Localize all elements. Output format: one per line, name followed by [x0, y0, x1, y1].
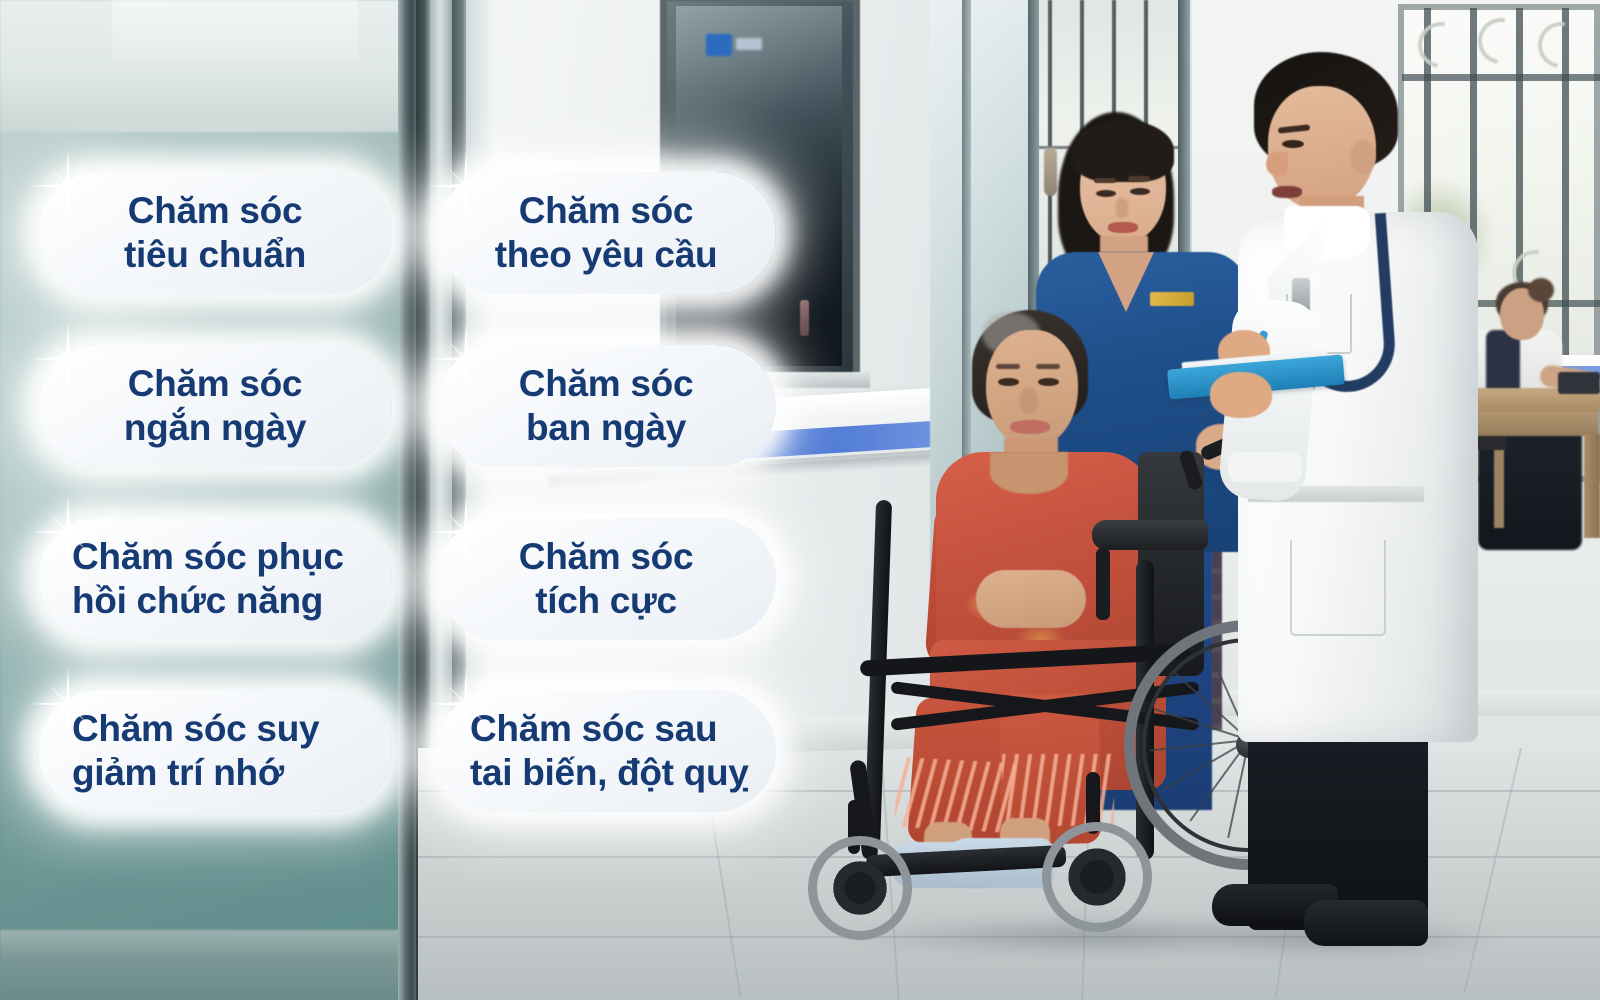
nurse-nose [1116, 198, 1128, 218]
service-pill-label: Chăm sóc ngắn ngày [124, 362, 306, 449]
doctor-ear [1350, 140, 1376, 174]
service-pill-rehabilitation-care[interactable]: Chăm sóc phục hồi chức năng [38, 518, 392, 640]
nurse-eyebrow [1128, 176, 1150, 181]
patient-eyebrow [1036, 364, 1060, 369]
service-pill-on-demand-care[interactable]: Chăm sóc theo yêu cầu [436, 172, 776, 294]
nurse-name-badge [1150, 292, 1194, 306]
service-pill-post-stroke-care[interactable]: Chăm sóc sau tai biến, đột quỵ [436, 690, 776, 812]
service-pill-short-term-care[interactable]: Chăm sóc ngắn ngày [38, 345, 392, 467]
window-sign-text [736, 38, 762, 50]
service-pill-label: Chăm sóc tiêu chuẩn [124, 189, 306, 276]
patient-hands [976, 570, 1086, 628]
wooden-desk-leg [1584, 434, 1600, 538]
doctor-coat-pocket [1290, 540, 1386, 636]
nurse-mouth [1108, 222, 1138, 233]
patient-mouth [1010, 420, 1050, 434]
service-pill-label: Chăm sóc sau tai biến, đột quỵ [470, 707, 749, 794]
doctor-mouth [1272, 186, 1302, 198]
patient-eye [1038, 378, 1059, 386]
nurse-eye [1096, 190, 1116, 197]
door-frame-left [398, 0, 416, 1000]
service-pill-standard-care[interactable]: Chăm sóc tiêu chuẩn [38, 172, 392, 294]
service-pill-label: Chăm sóc tích cực [519, 535, 693, 622]
banner-stage: Chăm sóc tiêu chuẩn Chăm sóc ngắn ngày C… [0, 0, 1600, 1000]
wheelchair-caster-wheel [808, 836, 912, 940]
wheelchair-caster-wheel [1042, 822, 1152, 932]
service-pill-day-care[interactable]: Chăm sóc ban ngày [436, 345, 776, 467]
nurse-hair-front [1072, 120, 1174, 182]
seated-staff-hair-bun [1528, 278, 1554, 302]
patient-eye [998, 378, 1019, 386]
window-latch [800, 300, 809, 336]
service-pill-memory-decline-care[interactable]: Chăm sóc suy giảm trí nhớ [38, 690, 392, 812]
doctor-eye [1282, 140, 1304, 148]
service-pill-intensive-care[interactable]: Chăm sóc tích cực [436, 518, 776, 640]
window-grille-bar [1402, 74, 1600, 81]
door-top-inner-panel [112, 0, 358, 60]
service-pill-label: Chăm sóc phục hồi chức năng [72, 535, 344, 622]
nurse-eye [1130, 188, 1150, 195]
patient-nose [1020, 388, 1038, 414]
service-pill-label: Chăm sóc suy giảm trí nhớ [72, 707, 319, 794]
wheelchair-armrest-post [1096, 548, 1110, 620]
window-sign-badge [706, 34, 732, 56]
wooden-chair-leg [1494, 450, 1504, 528]
doctor-coat-cuff [1228, 452, 1302, 482]
glass-door [0, 0, 418, 1000]
patient-collar [990, 452, 1068, 494]
desk-laptop [1558, 372, 1600, 394]
service-pill-label: Chăm sóc theo yêu cầu [495, 189, 718, 276]
doctor-hand [1210, 372, 1272, 418]
doctor-shoe [1304, 900, 1428, 946]
doctor-nose [1266, 152, 1288, 176]
patient-eyebrow [996, 364, 1020, 369]
wheelchair-armrest [1092, 520, 1208, 550]
service-pill-label: Chăm sóc ban ngày [519, 362, 693, 449]
door-bottom-rail [0, 930, 420, 1000]
background-photograph [0, 0, 1600, 1000]
nurse-eyebrow [1094, 178, 1116, 183]
